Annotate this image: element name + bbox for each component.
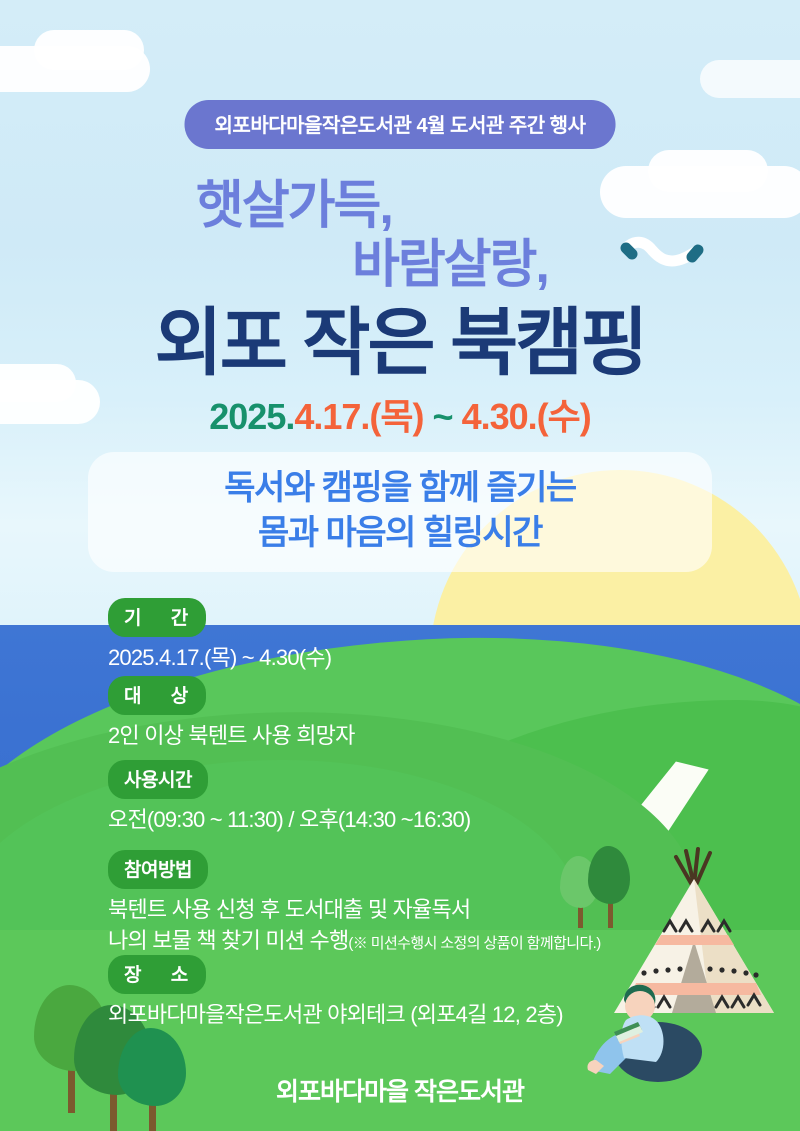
value-method-text: 나의 보물 책 찾기 미션 수행 (108, 928, 348, 953)
detail-row-hours: 사용시간 오전(09:30 ~ 11:30) / 오후(14:30 ~16:30… (108, 760, 470, 835)
value-method-note: (※ 미션수행시 소정의 상품이 함께합니다.) (348, 935, 600, 952)
label-period: 기 간 (108, 598, 206, 637)
value-hours: 오전(09:30 ~ 11:30) / 오후(14:30 ~16:30) (108, 804, 470, 835)
label-location: 장 소 (108, 955, 206, 994)
detail-row-method: 참여방법 북텐트 사용 신청 후 도서대출 및 자율독서 나의 보물 책 찾기 … (108, 850, 601, 959)
detail-row-period: 기 간 2025.4.17.(목) ~ 4.30(수) (108, 598, 331, 673)
value-location: 외포바다마을작은도서관 야외테크 (외포4길 12, 2층) (108, 999, 563, 1030)
value-method-line-2: 나의 보물 책 찾기 미션 수행(※ 미션수행시 소정의 상품이 함께합니다.) (108, 925, 601, 959)
value-method-line-1: 북텐트 사용 신청 후 도서대출 및 자율독서 (108, 894, 601, 925)
library-name-footer: 외포바다마을 작은도서관 (0, 1072, 800, 1108)
value-audience: 2인 이상 북텐트 사용 희망자 (108, 720, 355, 751)
detail-row-audience: 대 상 2인 이상 북텐트 사용 희망자 (108, 676, 355, 751)
detail-row-location: 장 소 외포바다마을작은도서관 야외테크 (외포4길 12, 2층) (108, 955, 563, 1030)
label-method: 참여방법 (108, 850, 208, 889)
details-list: 기 간 2025.4.17.(목) ~ 4.30(수) 대 상 2인 이상 북텐… (0, 0, 800, 1131)
event-poster: 외포바다마을작은도서관 4월 도서관 주간 행사 햇살가득, 바람살랑, 외포 … (0, 0, 800, 1131)
value-period: 2025.4.17.(목) ~ 4.30(수) (108, 642, 331, 673)
label-audience: 대 상 (108, 676, 206, 715)
label-hours: 사용시간 (108, 760, 208, 799)
